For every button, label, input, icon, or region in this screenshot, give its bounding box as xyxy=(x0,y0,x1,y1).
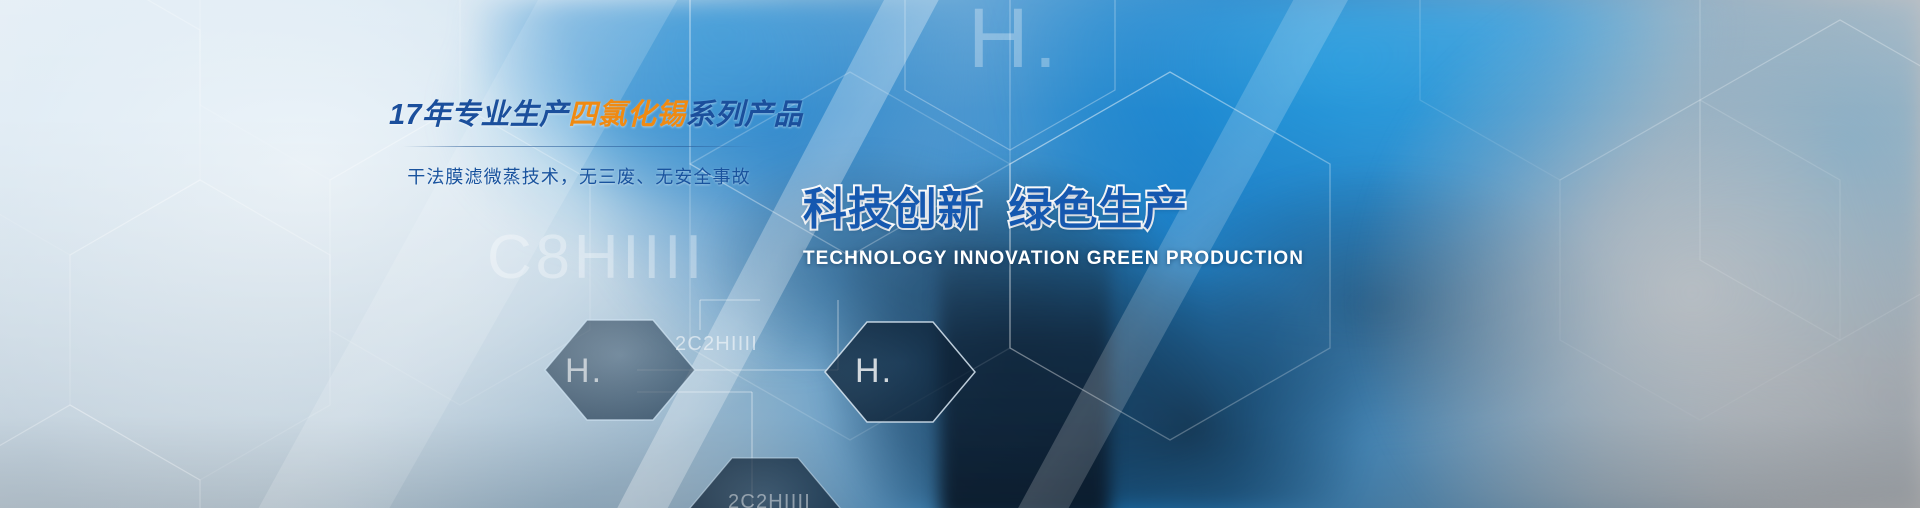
slogan-english: TECHNOLOGY INNOVATION GREEN PRODUCTION xyxy=(803,248,1183,270)
headline-suffix: 系列产品 xyxy=(685,99,802,131)
slogan: 科技创新绿色生产 xyxy=(803,186,1183,234)
watermark-formula-mid: 2C2HIIII xyxy=(675,333,758,356)
headline-product-name: 四氯化锡 xyxy=(568,99,685,131)
watermark-hex-symbol-1: H. xyxy=(565,352,603,391)
hero-banner: H. C8HIIII 2C2HIIII 2C2HIIII H. H. 17年专业… xyxy=(0,0,1920,508)
headline-divider xyxy=(403,146,755,147)
right-copy-block: 科技创新绿色生产 TECHNOLOGY INNOVATION GREEN PRO… xyxy=(803,186,1183,270)
slogan-part-2: 绿色生产 xyxy=(1009,185,1189,234)
watermark-hex-symbol-top: H. xyxy=(968,0,1062,87)
hexagon-node-right xyxy=(825,322,975,422)
slogan-part-1: 科技创新 xyxy=(803,185,983,234)
subheadline: 干法膜滤微蒸技术，无三废、无安全事故 xyxy=(389,163,769,189)
watermark-formula-big: C8HIIII xyxy=(487,222,706,293)
left-copy-block: 17年专业生产四氯化锡系列产品 干法膜滤微蒸技术，无三废、无安全事故 xyxy=(389,99,769,189)
hexagon-outlines-right xyxy=(1420,0,1920,420)
watermark-formula-bottom: 2C2HIIII xyxy=(728,491,811,508)
watermark-hex-symbol-2: H. xyxy=(855,352,893,391)
headline-prefix: 17年专业生产 xyxy=(389,99,568,131)
headline: 17年专业生产四氯化锡系列产品 xyxy=(389,99,769,132)
